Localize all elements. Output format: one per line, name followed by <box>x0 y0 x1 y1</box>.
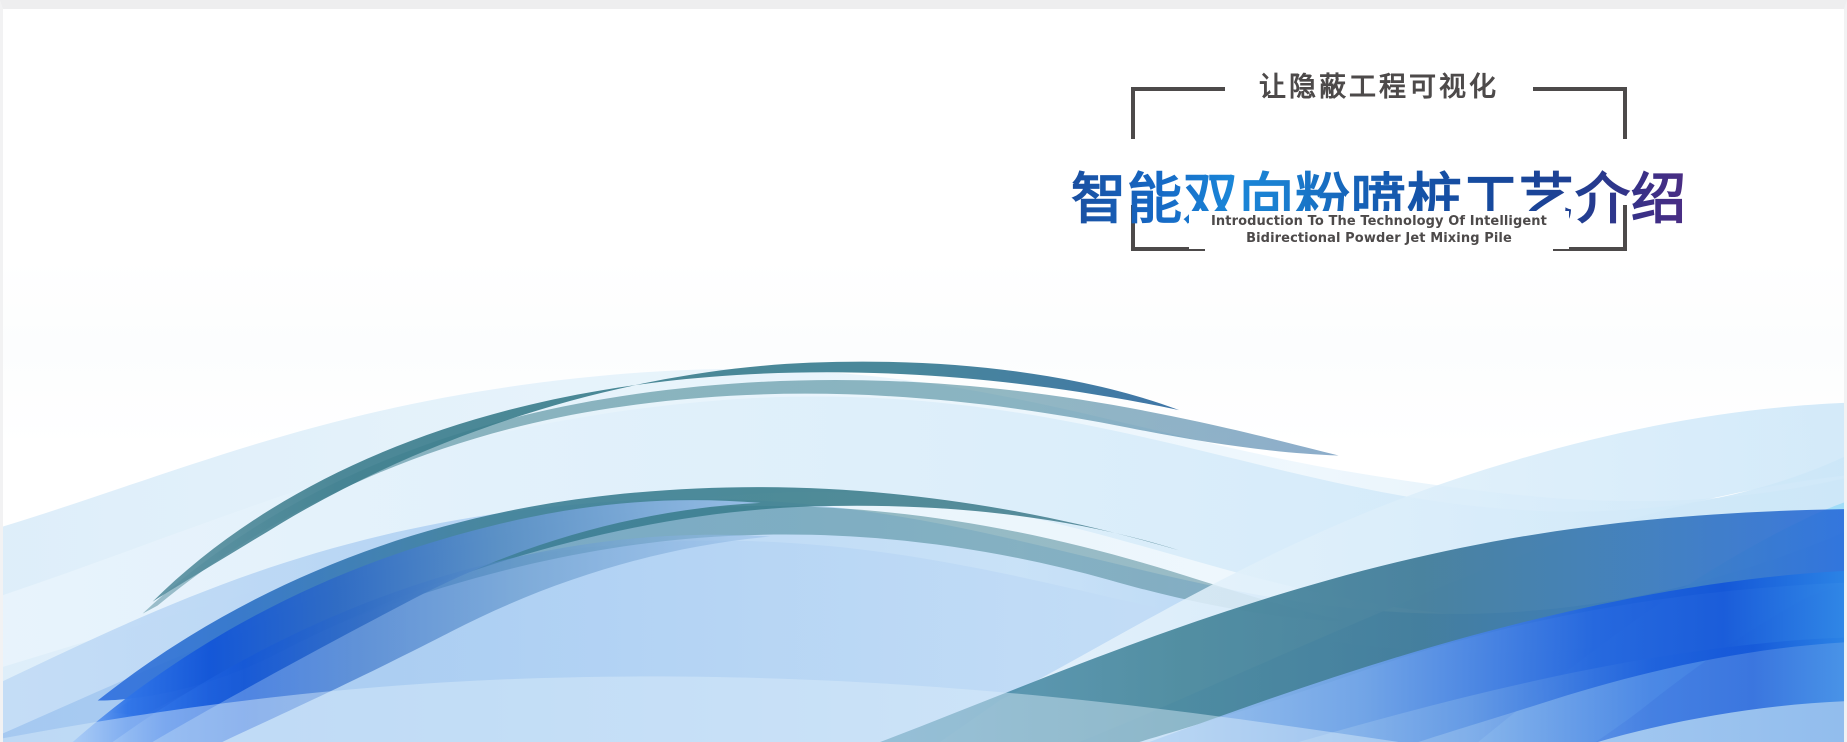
banner-hero: 让隐蔽工程可视化 智能双向粉喷桩工艺介绍 Introduction To The… <box>0 0 1847 742</box>
banner-subtitle: Introduction To The Technology Of Intell… <box>1189 211 1569 249</box>
banner-subtitle-line-1: Introduction To The Technology Of Intell… <box>1199 213 1559 230</box>
banner-kicker: 让隐蔽工程可视化 <box>1245 69 1513 107</box>
bracket-corner-top-right-icon <box>1533 87 1627 139</box>
bracket-corner-top-left-icon <box>1131 87 1225 139</box>
title-block: 让隐蔽工程可视化 智能双向粉喷桩工艺介绍 Introduction To The… <box>1131 67 1627 257</box>
banner-subtitle-line-2: Bidirectional Powder Jet Mixing Pile <box>1199 230 1559 247</box>
